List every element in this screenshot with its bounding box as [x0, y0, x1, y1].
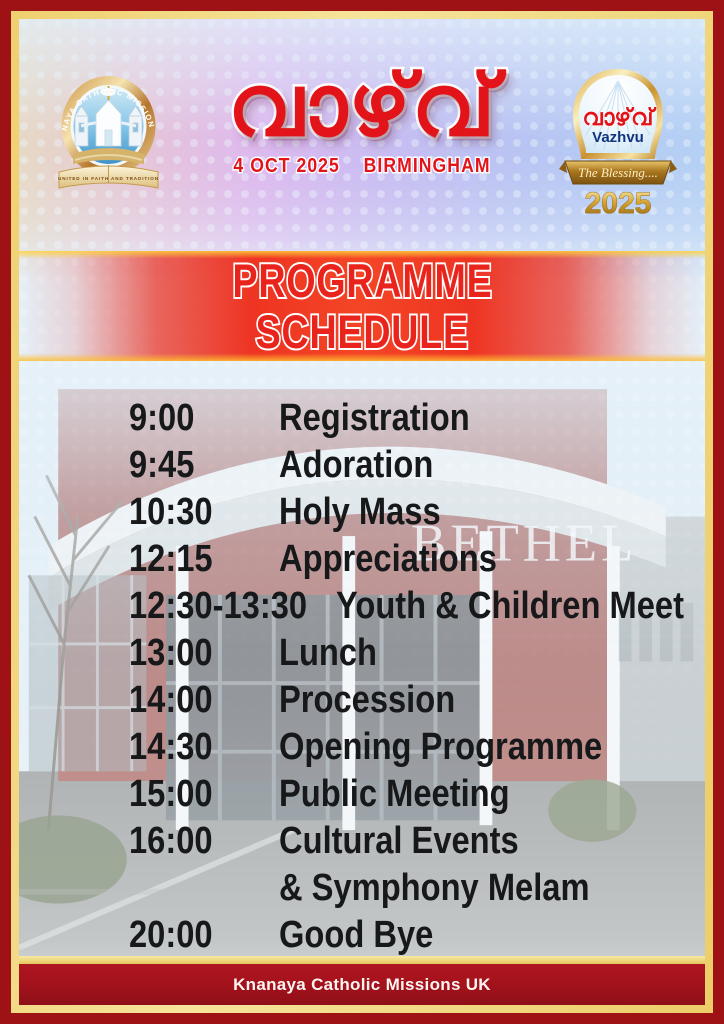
schedule-row: 14:00 Procession — [129, 679, 705, 726]
schedule-event: Opening Programme — [279, 726, 602, 769]
schedule-event: Appreciations — [279, 538, 497, 581]
schedule-event: Cultural Events — [279, 820, 519, 863]
programme-schedule-banner: PROGRAMME SCHEDULE — [19, 251, 705, 361]
schedule-time: 16:00 — [129, 820, 258, 863]
poster-canvas: BETHEL — [19, 19, 705, 1005]
schedule-row-continuation: & Symphony Melam — [129, 867, 705, 914]
schedule-row: 14:30 Opening Programme — [129, 726, 705, 773]
schedule-row: 9:00 Registration — [129, 397, 705, 444]
banner-line-2: SCHEDULE — [255, 308, 468, 355]
schedule-event: Youth & Children Meet — [336, 585, 684, 628]
svg-text:Vazhvu: Vazhvu — [592, 129, 644, 146]
poster: BETHEL — [0, 0, 724, 1024]
schedule-row: 12:15 Appreciations — [129, 538, 705, 585]
event-city: BIRMINGHAM — [364, 155, 491, 177]
schedule-time: 12:15 — [129, 538, 258, 581]
schedule-time: 9:45 — [129, 444, 258, 487]
schedule-event: & Symphony Melam — [279, 867, 590, 910]
schedule-time: 20:00 — [129, 914, 258, 957]
svg-text:2025: 2025 — [585, 187, 652, 218]
schedule-row: 10:30 Holy Mass — [129, 491, 705, 538]
schedule-event: Registration — [279, 397, 470, 440]
schedule-event: Adoration — [279, 444, 433, 487]
schedule-time: 13:00 — [129, 632, 258, 675]
schedule-time: 15:00 — [129, 773, 258, 816]
schedule-event: Good Bye — [279, 914, 433, 957]
poster-gold-border: BETHEL — [11, 11, 713, 1013]
footer-organisation-name: Knanaya Catholic Missions UK — [233, 975, 491, 995]
svg-text:വാഴ്‌വ്: വാഴ്‌വ് — [583, 104, 658, 130]
schedule-time: 10:30 — [129, 491, 258, 534]
schedule-row: 16:00 Cultural Events — [129, 820, 705, 867]
schedule-row: 12:30-13:30 Youth & Children Meet — [129, 585, 705, 632]
schedule-time: 9:00 — [129, 397, 258, 440]
vazhvu-badge-icon: വാഴ്‌വ് Vazhvu The Blessing.... 2025 — [559, 63, 677, 218]
footer-gold-stripe — [19, 956, 705, 964]
event-date: 4 OCT 2025 — [233, 155, 339, 177]
schedule-event: Holy Mass — [279, 491, 441, 534]
schedule-time: 14:30 — [129, 726, 258, 769]
banner-line-1: PROGRAMME — [232, 257, 492, 304]
schedule-event: Public Meeting — [279, 773, 510, 816]
schedule-list: 9:00 Registration 9:45 Adoration 10:30 H… — [19, 397, 705, 961]
schedule-row: 9:45 Adoration — [129, 444, 705, 491]
schedule-time: 12:30-13:30 — [129, 585, 307, 628]
schedule-row: 13:00 Lunch — [129, 632, 705, 679]
schedule-event: Lunch — [279, 632, 377, 675]
schedule-row: 15:00 Public Meeting — [129, 773, 705, 820]
footer-bar: Knanaya Catholic Missions UK — [19, 964, 705, 1005]
schedule-time: 14:00 — [129, 679, 258, 722]
schedule-row: 20:00 Good Bye — [129, 914, 705, 961]
svg-text:The Blessing....: The Blessing.... — [578, 165, 658, 180]
poster-footer: Knanaya Catholic Missions UK — [19, 956, 705, 1005]
poster-header: KNANAYA CATHOLIC MISSIONS UK UNITED IN F… — [19, 19, 705, 224]
schedule-event: Procession — [279, 679, 455, 722]
